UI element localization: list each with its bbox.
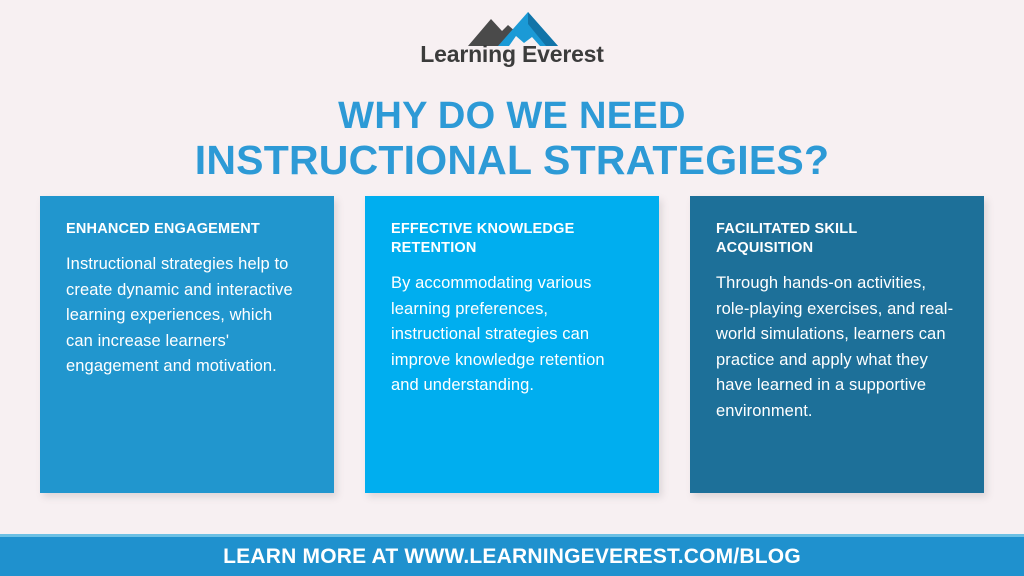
brand-name: Learning Everest [420, 43, 603, 66]
card-heading: FACILITATED SKILL ACQUISITION [716, 220, 958, 258]
benefit-card-facilitated-skill-acquisition: FACILITATED SKILL ACQUISITION Through ha… [690, 196, 984, 493]
benefit-cards: ENHANCED ENGAGEMENT Instructional strate… [40, 196, 984, 493]
footer-bar: LEARN MORE AT WWW.LEARNINGEVEREST.COM/BL… [0, 537, 1024, 576]
card-heading: EFFECTIVE KNOWLEDGE RETENTION [391, 220, 633, 258]
card-body: Instructional strategies help to create … [66, 252, 298, 380]
page-title: WHY DO WE NEED INSTRUCTIONAL STRATEGIES? [0, 94, 1024, 182]
benefit-card-enhanced-engagement: ENHANCED ENGAGEMENT Instructional strate… [40, 196, 334, 493]
infographic-slide: Learning Everest WHY DO WE NEED INSTRUCT… [0, 0, 1024, 576]
footer-cta-text: LEARN MORE AT WWW.LEARNINGEVEREST.COM/BL… [223, 546, 801, 567]
card-body: Through hands-on activities, role-playin… [716, 271, 958, 424]
page-title-line-2: INSTRUCTIONAL STRATEGIES? [0, 138, 1024, 182]
benefit-card-effective-knowledge-retention: EFFECTIVE KNOWLEDGE RETENTION By accommo… [365, 196, 659, 493]
brand-logo: Learning Everest [0, 10, 1024, 66]
card-body: By accommodating various learning prefer… [391, 271, 633, 399]
card-heading: ENHANCED ENGAGEMENT [66, 220, 308, 239]
page-title-line-1: WHY DO WE NEED [0, 94, 1024, 138]
